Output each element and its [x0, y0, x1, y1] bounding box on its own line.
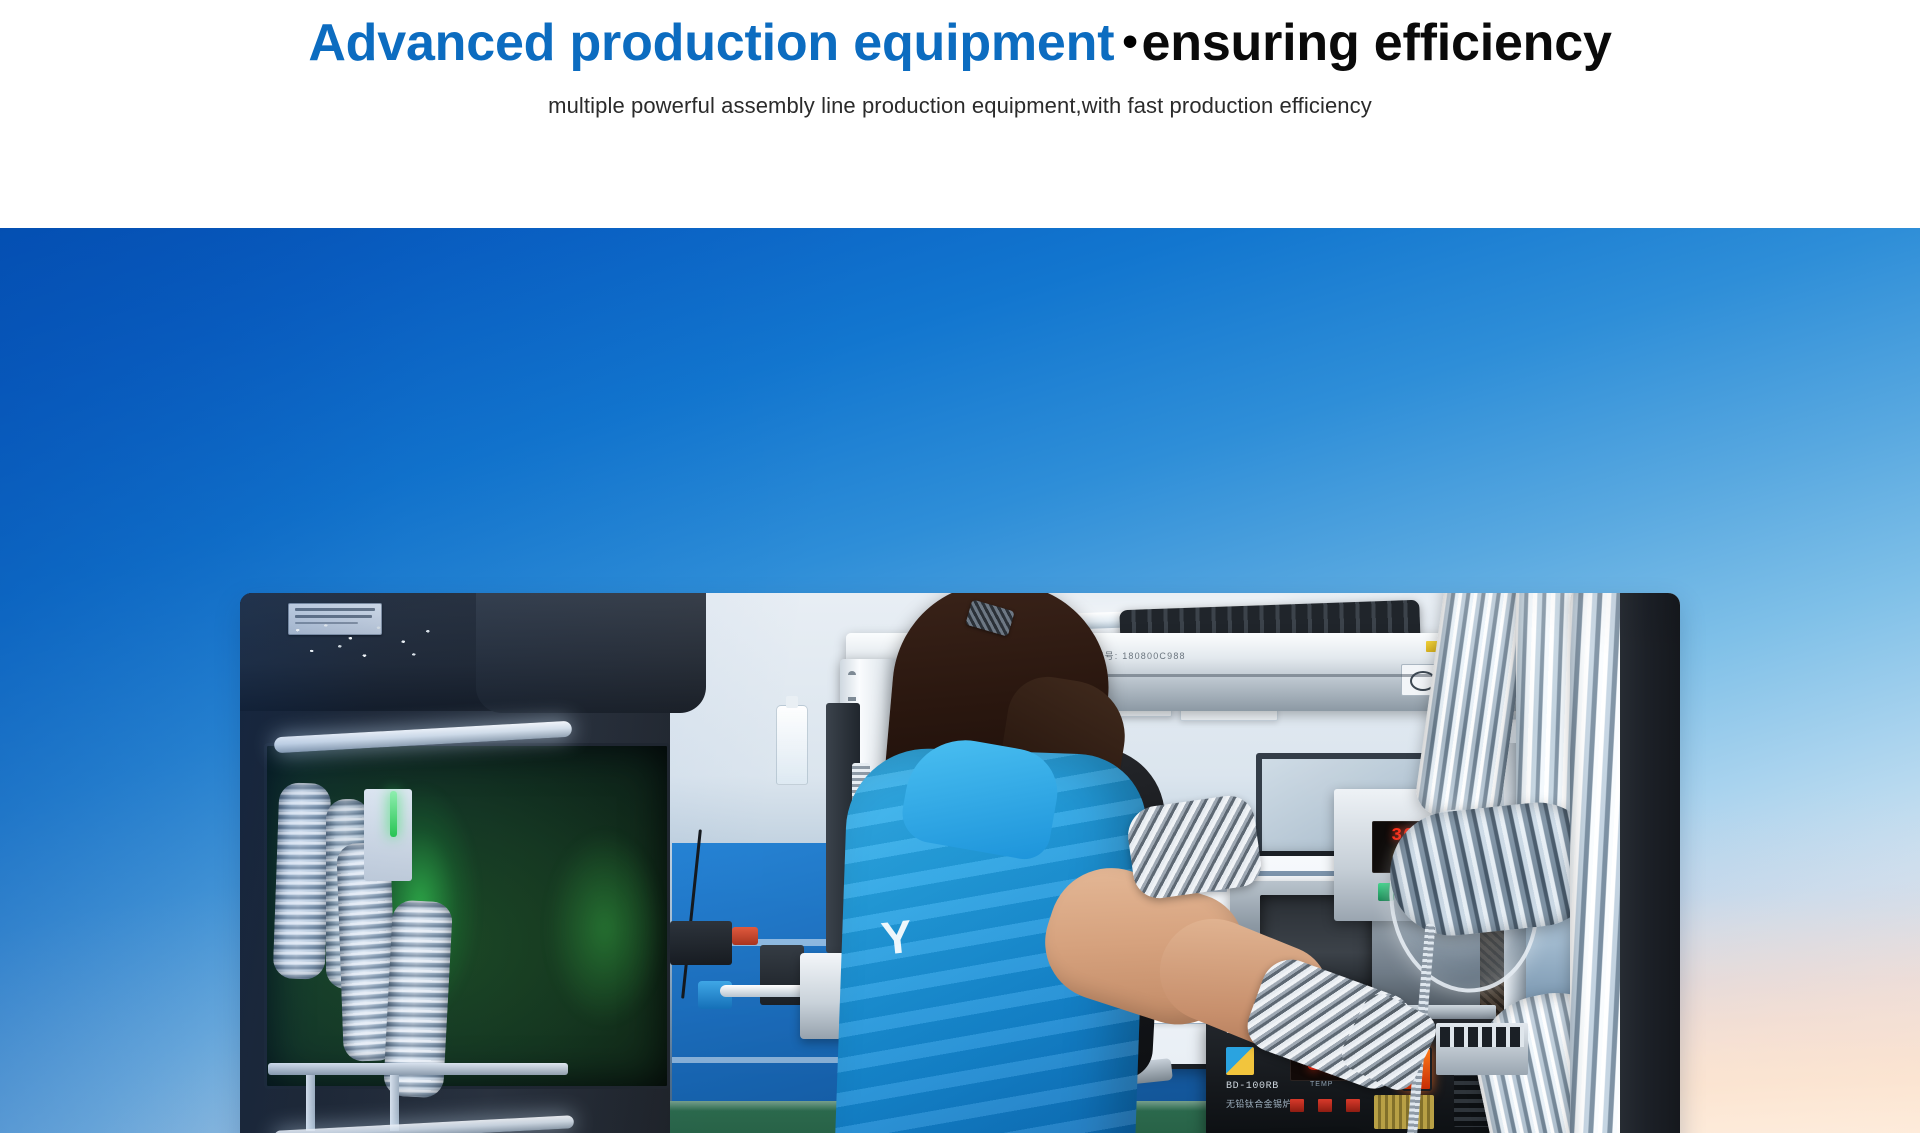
solder-pot-temp-caption: TEMP [1310, 1081, 1333, 1088]
control-button[interactable] [1290, 1099, 1304, 1112]
machine-enclosure [240, 593, 670, 1133]
title-rest: ensuring efficiency [1142, 14, 1612, 72]
shelf-leg [306, 1075, 315, 1131]
green-interior-glow [530, 803, 680, 1053]
green-status-indicator [390, 791, 397, 837]
enclosure-light-tube [274, 1115, 574, 1133]
promo-banner: Advanced production equipment•ensuring e… [0, 0, 1920, 1133]
interior-shelf [268, 1063, 568, 1075]
factory-worker: Y [660, 593, 1220, 1133]
terminal-block [1436, 1023, 1528, 1075]
solder-pot-model: BD-100RB [1226, 1081, 1279, 1092]
title-highlight: Advanced production equipment [308, 14, 1114, 72]
metal-connector-parts [280, 615, 456, 673]
page-title: Advanced production equipment•ensuring e… [0, 0, 1920, 74]
worker-glove-left [1124, 793, 1264, 902]
solder-pot-brand-logo [1226, 1047, 1254, 1075]
silver-duct [273, 782, 332, 980]
factory-photo: 编号: 180800C988 [240, 593, 1680, 1133]
control-button[interactable] [1318, 1099, 1332, 1112]
photo-card: 编号: 180800C988 [240, 593, 1680, 1133]
page-subtitle: multiple powerful assembly line producti… [0, 74, 1920, 119]
photo-right-dark-edge [1620, 593, 1680, 1133]
shelf-leg [390, 1075, 399, 1131]
vest-logo: Y [879, 910, 939, 973]
title-separator-bullet: • [1114, 17, 1141, 66]
solder-pot-model-cn: 无铅钛合金锡炉 [1226, 1097, 1292, 1110]
sky-background: 编号: 180800C988 [0, 228, 1920, 1133]
control-button[interactable] [1346, 1099, 1360, 1112]
interior-white-module [364, 789, 412, 881]
warning-sticker [1374, 1095, 1434, 1129]
header-section: Advanced production equipment•ensuring e… [0, 0, 1920, 228]
